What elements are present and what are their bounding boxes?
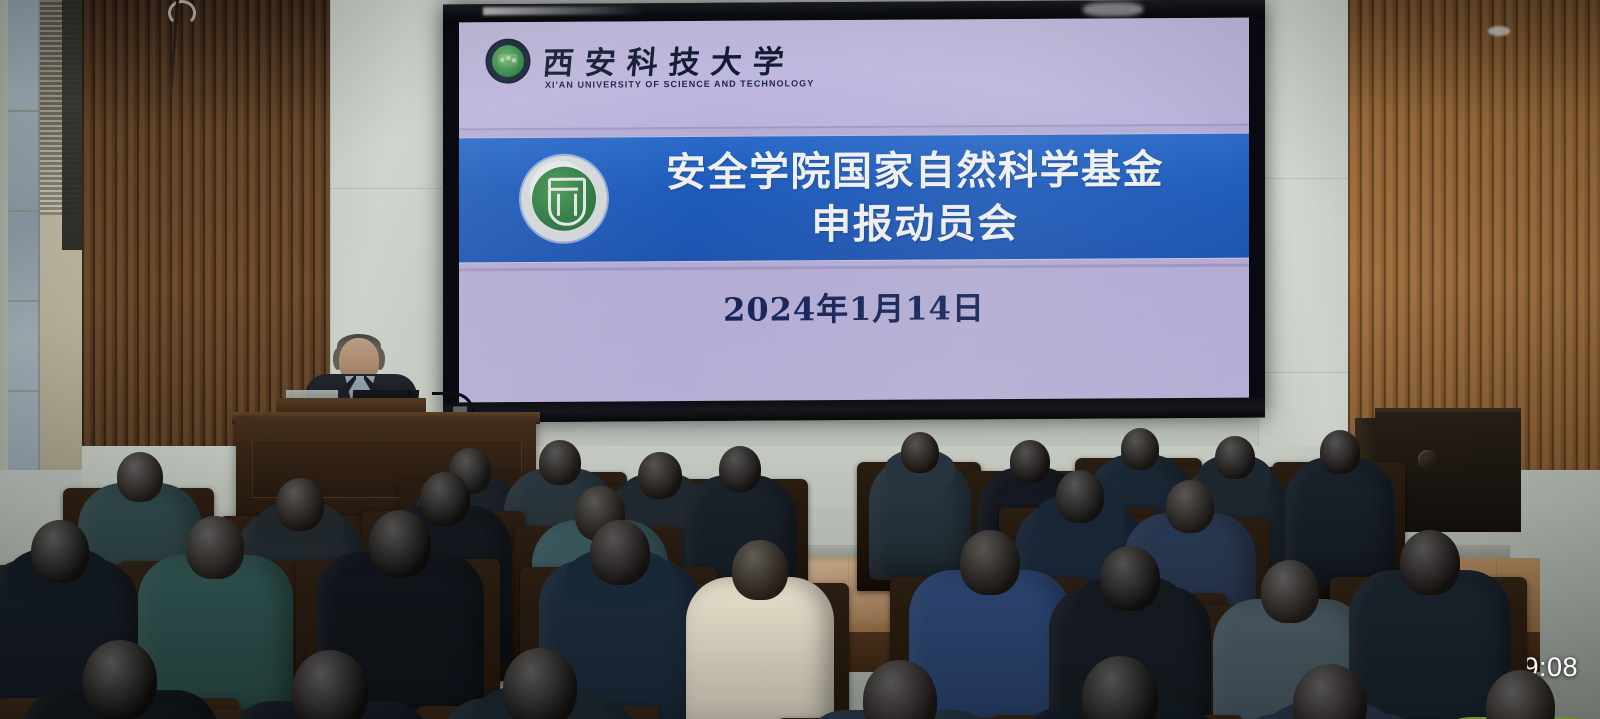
audience-member-head <box>1400 530 1460 595</box>
audience <box>0 0 1600 719</box>
audience-member-head <box>1215 436 1255 479</box>
audience-member-head <box>117 452 163 502</box>
audience-member-head <box>719 446 761 492</box>
audience-member-head <box>1320 430 1360 474</box>
audience-member-head <box>590 520 650 585</box>
photograph-scene: 西安科技大学 XI'AN UNIVERSITY OF SCIENCE AND T… <box>0 0 1600 719</box>
audience-member-head <box>1010 440 1050 483</box>
audience-member-head <box>732 540 787 600</box>
audience-member-head <box>638 452 681 499</box>
audience-member-head <box>503 648 577 719</box>
audience-member-head <box>420 472 470 526</box>
audience-member-head <box>1166 480 1215 533</box>
audience-member-head <box>960 530 1020 595</box>
audience-member-head <box>83 640 157 719</box>
audience-member-head <box>1100 546 1160 611</box>
audience-member-head <box>901 432 939 473</box>
audience-member-head <box>1261 560 1319 623</box>
audience-member-head <box>1121 428 1160 470</box>
audience-member-head <box>1056 470 1104 523</box>
audience-member-head <box>539 440 580 485</box>
audience-member-head <box>369 510 431 578</box>
audience-member-head <box>186 516 244 579</box>
audience-member-head <box>276 478 324 531</box>
audience-member-head <box>31 520 89 583</box>
